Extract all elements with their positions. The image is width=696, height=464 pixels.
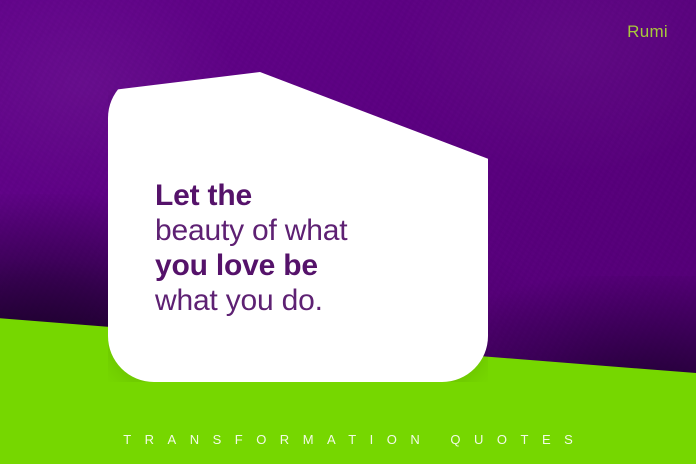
quote-line-3: you love be	[155, 248, 475, 283]
quote-line-4: what you do.	[155, 283, 475, 318]
author-name: Rumi	[627, 22, 668, 42]
quote-line-1: Let the	[155, 178, 475, 213]
quote-line-2: beauty of what	[155, 213, 475, 248]
banner-label: TRANSFORMATION QUOTES	[0, 432, 696, 447]
quote-poster: Let the beauty of what you love be what …	[0, 0, 696, 464]
quote-text-block: Let the beauty of what you love be what …	[155, 178, 475, 318]
